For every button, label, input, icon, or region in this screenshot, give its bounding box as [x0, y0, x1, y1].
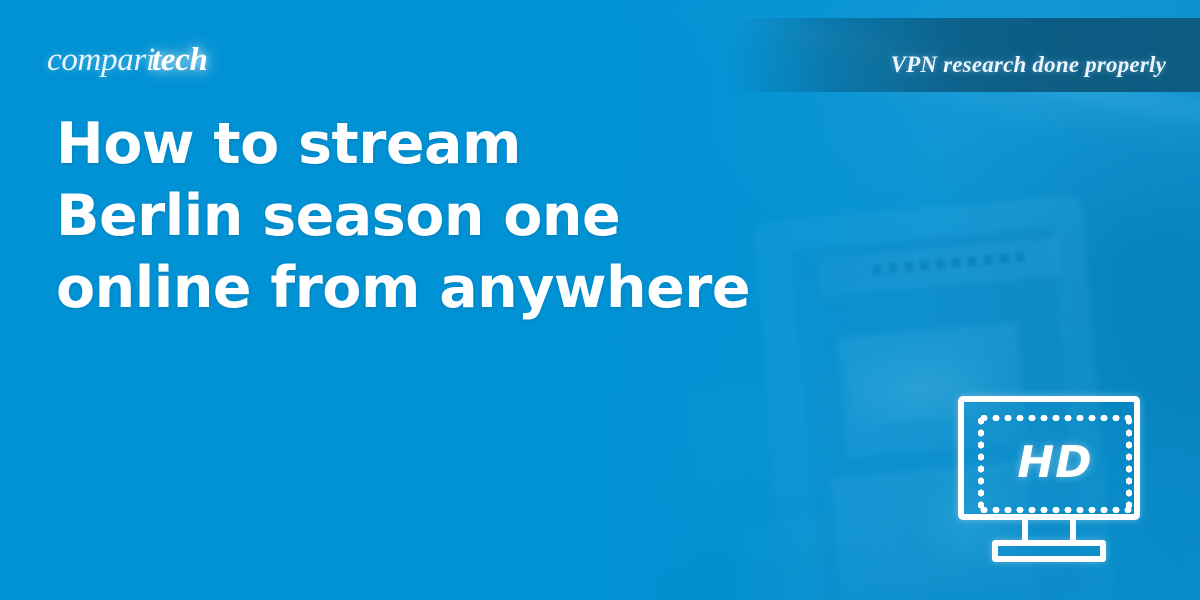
logo-text-compari: compari — [47, 42, 155, 78]
monitor-stand-base — [992, 540, 1106, 562]
hd-monitor-icon: HD — [958, 396, 1148, 576]
logo-text-tech: tech — [152, 42, 208, 78]
monitor-stand-neck — [1022, 520, 1076, 542]
tagline-text: VPN research done properly — [891, 52, 1166, 78]
headline-line-2: Berlin season one — [56, 180, 816, 252]
headline-line-1: How to stream — [56, 108, 816, 180]
headline-line-3: online from anywhere — [56, 252, 816, 324]
monitor-dotted-border-top — [978, 415, 1132, 421]
hd-label: HD — [964, 438, 1146, 488]
monitor-screen-frame: HD — [958, 396, 1140, 520]
comparitech-logo[interactable]: comparitech — [47, 44, 208, 77]
comparitech-article-banner: VPN research done properly comparitech H… — [0, 0, 1200, 600]
monitor-dotted-border-bottom — [978, 507, 1132, 513]
page-title: How to stream Berlin season one online f… — [56, 108, 816, 324]
